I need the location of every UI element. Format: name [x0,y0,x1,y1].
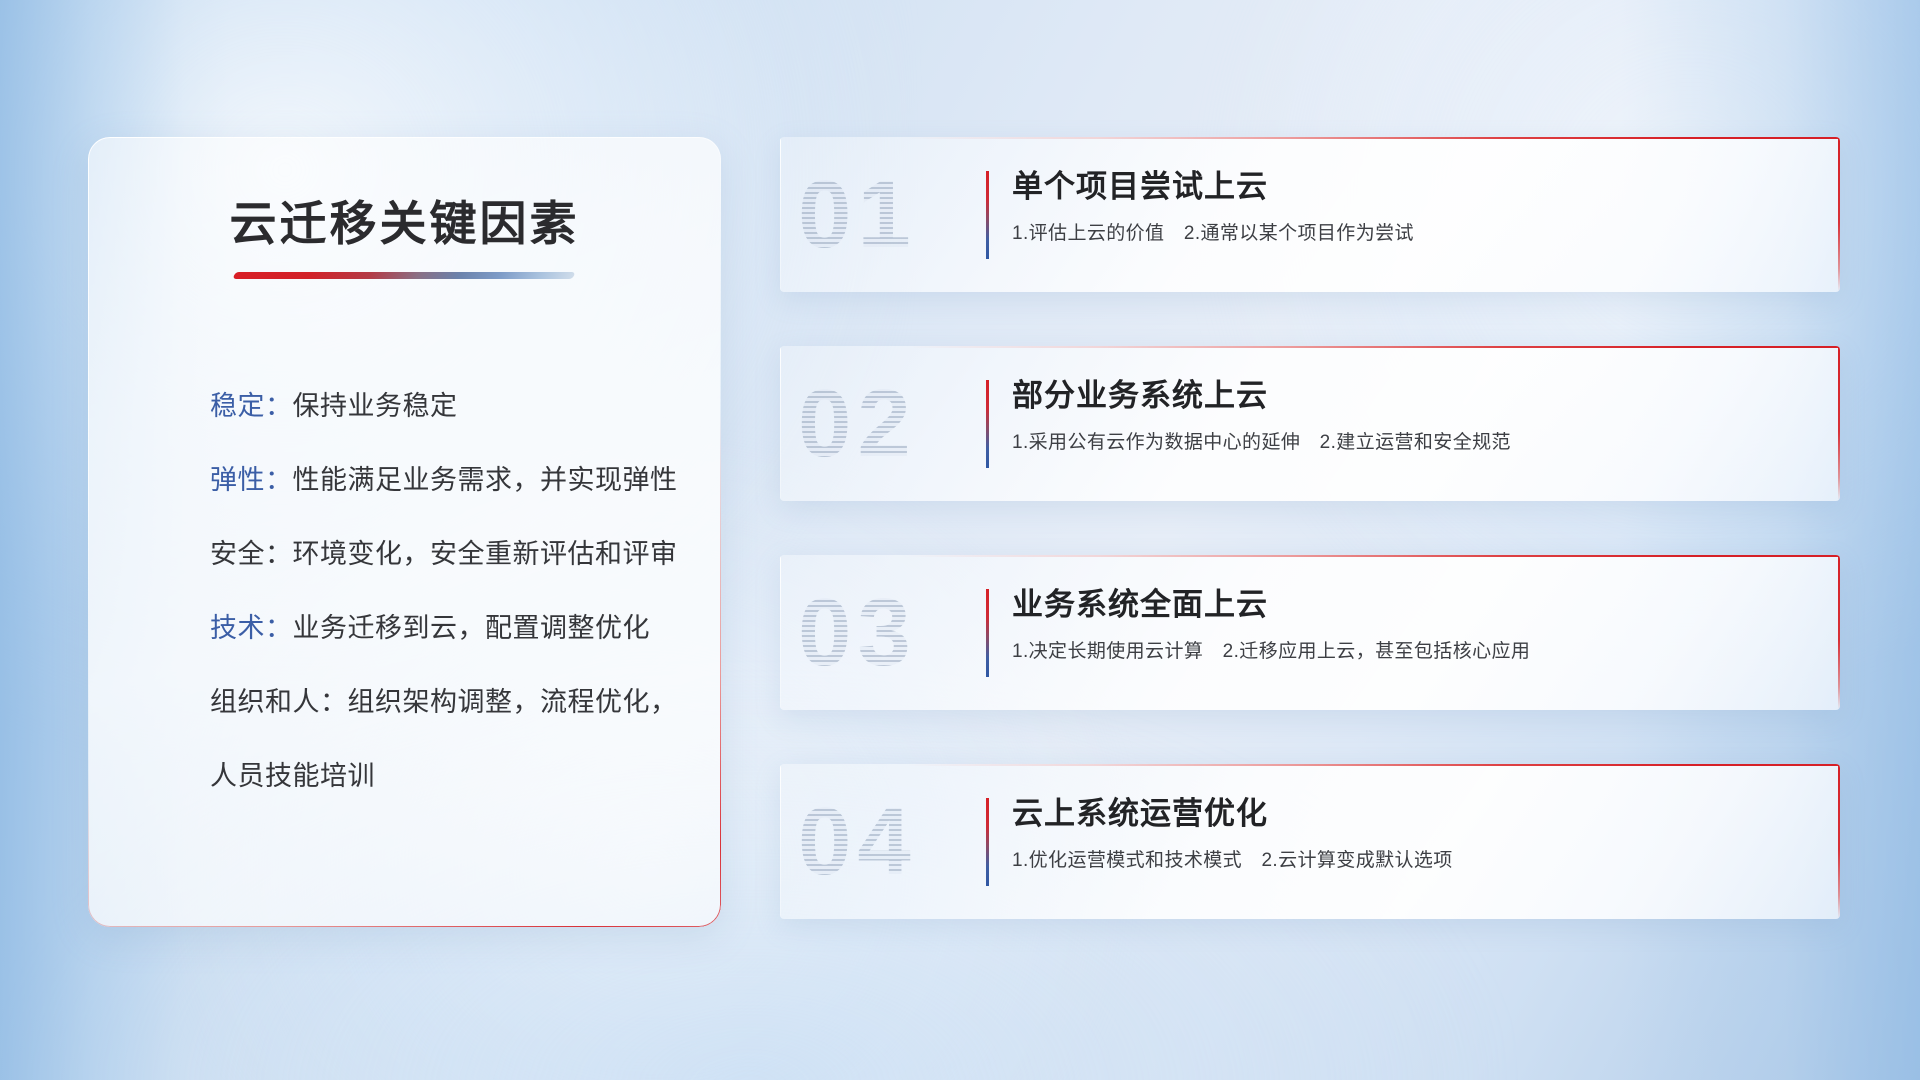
key-factors-panel-inner: 云迁移关键因素 稳定：保持业务稳定弹性：性能满足业务需求，并实现弹性安全：环境变… [88,137,721,927]
key-factor-text: 环境变化，安全重新评估和评审 [293,539,678,569]
card-body: 单个项目尝试上云1.评估上云的价值 2.通常以某个项目作为尝试 [1012,165,1814,247]
card-step-number: 03 [798,585,917,681]
key-factors-panel: 云迁移关键因素 稳定：保持业务稳定弹性：性能满足业务需求，并实现弹性安全：环境变… [88,137,721,927]
key-factor-item: 人员技能培训 [210,739,673,813]
key-factor-item: 安全：环境变化，安全重新评估和评审 [210,517,673,591]
key-factor-label: 安全： [210,539,293,569]
card-subtitle: 1.优化运营模式和技术模式 2.云计算变成默认选项 [1012,848,1814,874]
card-body: 部分业务系统上云1.采用公有云作为数据中心的延伸 2.建立运营和安全规范 [1012,374,1814,456]
key-factor-item: 稳定：保持业务稳定 [210,369,673,443]
stage-card[interactable]: 03业务系统全面上云1.决定长期使用云计算 2.迁移应用上云，甚至包括核心应用 [780,555,1840,710]
key-factor-text: 保持业务稳定 [293,391,458,421]
card-right-accent-line [1838,137,1840,292]
card-left-edge [780,555,781,710]
key-factor-label: 技术： [210,613,293,643]
card-step-number: 02 [798,376,917,472]
stage-card[interactable]: 02部分业务系统上云1.采用公有云作为数据中心的延伸 2.建立运营和安全规范 [780,346,1840,501]
key-factor-label: 稳定： [210,391,293,421]
card-title: 云上系统运营优化 [1012,792,1814,836]
key-factor-item: 组织和人：组织架构调整，流程优化， [210,665,673,739]
key-factor-text: 业务迁移到云，配置调整优化 [293,613,651,643]
card-title: 部分业务系统上云 [1012,374,1814,418]
stage-card[interactable]: 04云上系统运营优化1.优化运营模式和技术模式 2.云计算变成默认选项 [780,764,1840,919]
title-underline-accent [233,272,576,279]
card-right-accent-line [1838,346,1840,501]
key-factor-item: 技术：业务迁移到云，配置调整优化 [210,591,673,665]
card-left-edge [780,346,781,501]
page-title: 云迁移关键因素 [88,185,721,254]
key-factors-list: 稳定：保持业务稳定弹性：性能满足业务需求，并实现弹性安全：环境变化，安全重新评估… [210,369,673,813]
card-divider-bar [986,798,989,886]
card-divider-bar [986,380,989,468]
card-right-accent-line [1838,764,1840,919]
card-left-edge [780,137,781,292]
key-factor-text: 人员技能培训 [210,761,375,791]
slide-canvas: 云迁移关键因素 稳定：保持业务稳定弹性：性能满足业务需求，并实现弹性安全：环境变… [0,0,1920,1080]
key-factor-text: 组织架构调整，流程优化， [348,687,678,717]
card-body: 业务系统全面上云1.决定长期使用云计算 2.迁移应用上云，甚至包括核心应用 [1012,583,1814,665]
card-right-accent-line [1838,555,1840,710]
key-factor-text: 性能满足业务需求，并实现弹性 [293,465,678,495]
card-divider-bar [986,589,989,677]
card-top-accent-line [780,764,1840,766]
card-divider-bar [986,171,989,259]
card-title: 单个项目尝试上云 [1012,165,1814,209]
key-factor-label: 弹性： [210,465,293,495]
card-left-edge [780,764,781,919]
card-step-number: 01 [798,167,917,263]
stage-card[interactable]: 01单个项目尝试上云1.评估上云的价值 2.通常以某个项目作为尝试 [780,137,1840,292]
card-subtitle: 1.采用公有云作为数据中心的延伸 2.建立运营和安全规范 [1012,430,1814,456]
card-top-accent-line [780,137,1840,139]
card-subtitle: 1.评估上云的价值 2.通常以某个项目作为尝试 [1012,221,1814,247]
card-title: 业务系统全面上云 [1012,583,1814,627]
card-body: 云上系统运营优化1.优化运营模式和技术模式 2.云计算变成默认选项 [1012,792,1814,874]
card-subtitle: 1.决定长期使用云计算 2.迁移应用上云，甚至包括核心应用 [1012,639,1814,665]
card-top-accent-line [780,346,1840,348]
card-top-accent-line [780,555,1840,557]
card-step-number: 04 [798,794,917,890]
key-factor-label: 组织和人： [210,687,348,717]
stage-card-list: 01单个项目尝试上云1.评估上云的价值 2.通常以某个项目作为尝试02部分业务系… [780,137,1840,973]
key-factor-item: 弹性：性能满足业务需求，并实现弹性 [210,443,673,517]
